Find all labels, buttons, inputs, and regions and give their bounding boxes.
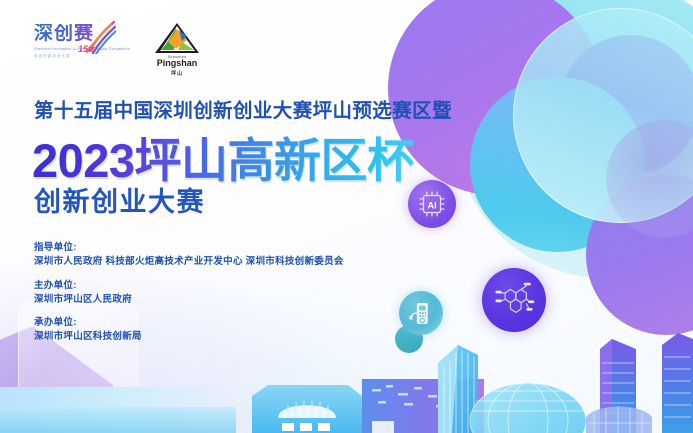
organizer-value: 深圳市坪山区人民政府 (34, 293, 344, 307)
mountain-icon (154, 22, 200, 54)
organizer-block-host: 主办单位: 深圳市坪山区人民政府 (34, 279, 344, 308)
logo-pingshan-chinese: 坪山 (171, 70, 183, 77)
molecule-glyph (491, 277, 537, 323)
organizer-label: 主办单位: (34, 279, 344, 293)
city-skyline-silhouette (0, 323, 693, 433)
organizer-label: 指导单位: (34, 241, 344, 255)
poster-canvas: 深创赛 15th Shenzhen Innovation & Entrepren… (0, 0, 693, 433)
poster-title-line1: 第十五届中国深圳创新创业大赛坪山预选赛区暨 (34, 94, 452, 123)
logo-pingshan: Shenzhen Pingshan 坪山 (146, 22, 208, 80)
logo-pingshan-name: Pingshan (157, 59, 198, 69)
poster-title-sub: 创新创业大赛 (34, 180, 205, 219)
ai-chip-glyph: AI (415, 187, 449, 221)
logo-shenchuangsai-chinese: 深圳创新创业大赛 (34, 53, 112, 58)
organizer-block-guidance: 指导单位: 深圳市人民政府 科技部火炬高技术产业开发中心 深圳市科技创新委员会 (34, 241, 344, 270)
logo-shenchuangsai: 深创赛 15th Shenzhen Innovation & Entrepren… (34, 24, 112, 80)
ai-chip-icon: AI (408, 180, 456, 228)
logo-row: 深创赛 15th Shenzhen Innovation & Entrepren… (34, 22, 208, 80)
ai-chip-label: AI (427, 200, 436, 210)
logo-edition-badge: 15th (78, 44, 97, 54)
organizer-value: 深圳市人民政府 科技部火炬高技术产业开发中心 深圳市科技创新委员会 (34, 255, 344, 269)
